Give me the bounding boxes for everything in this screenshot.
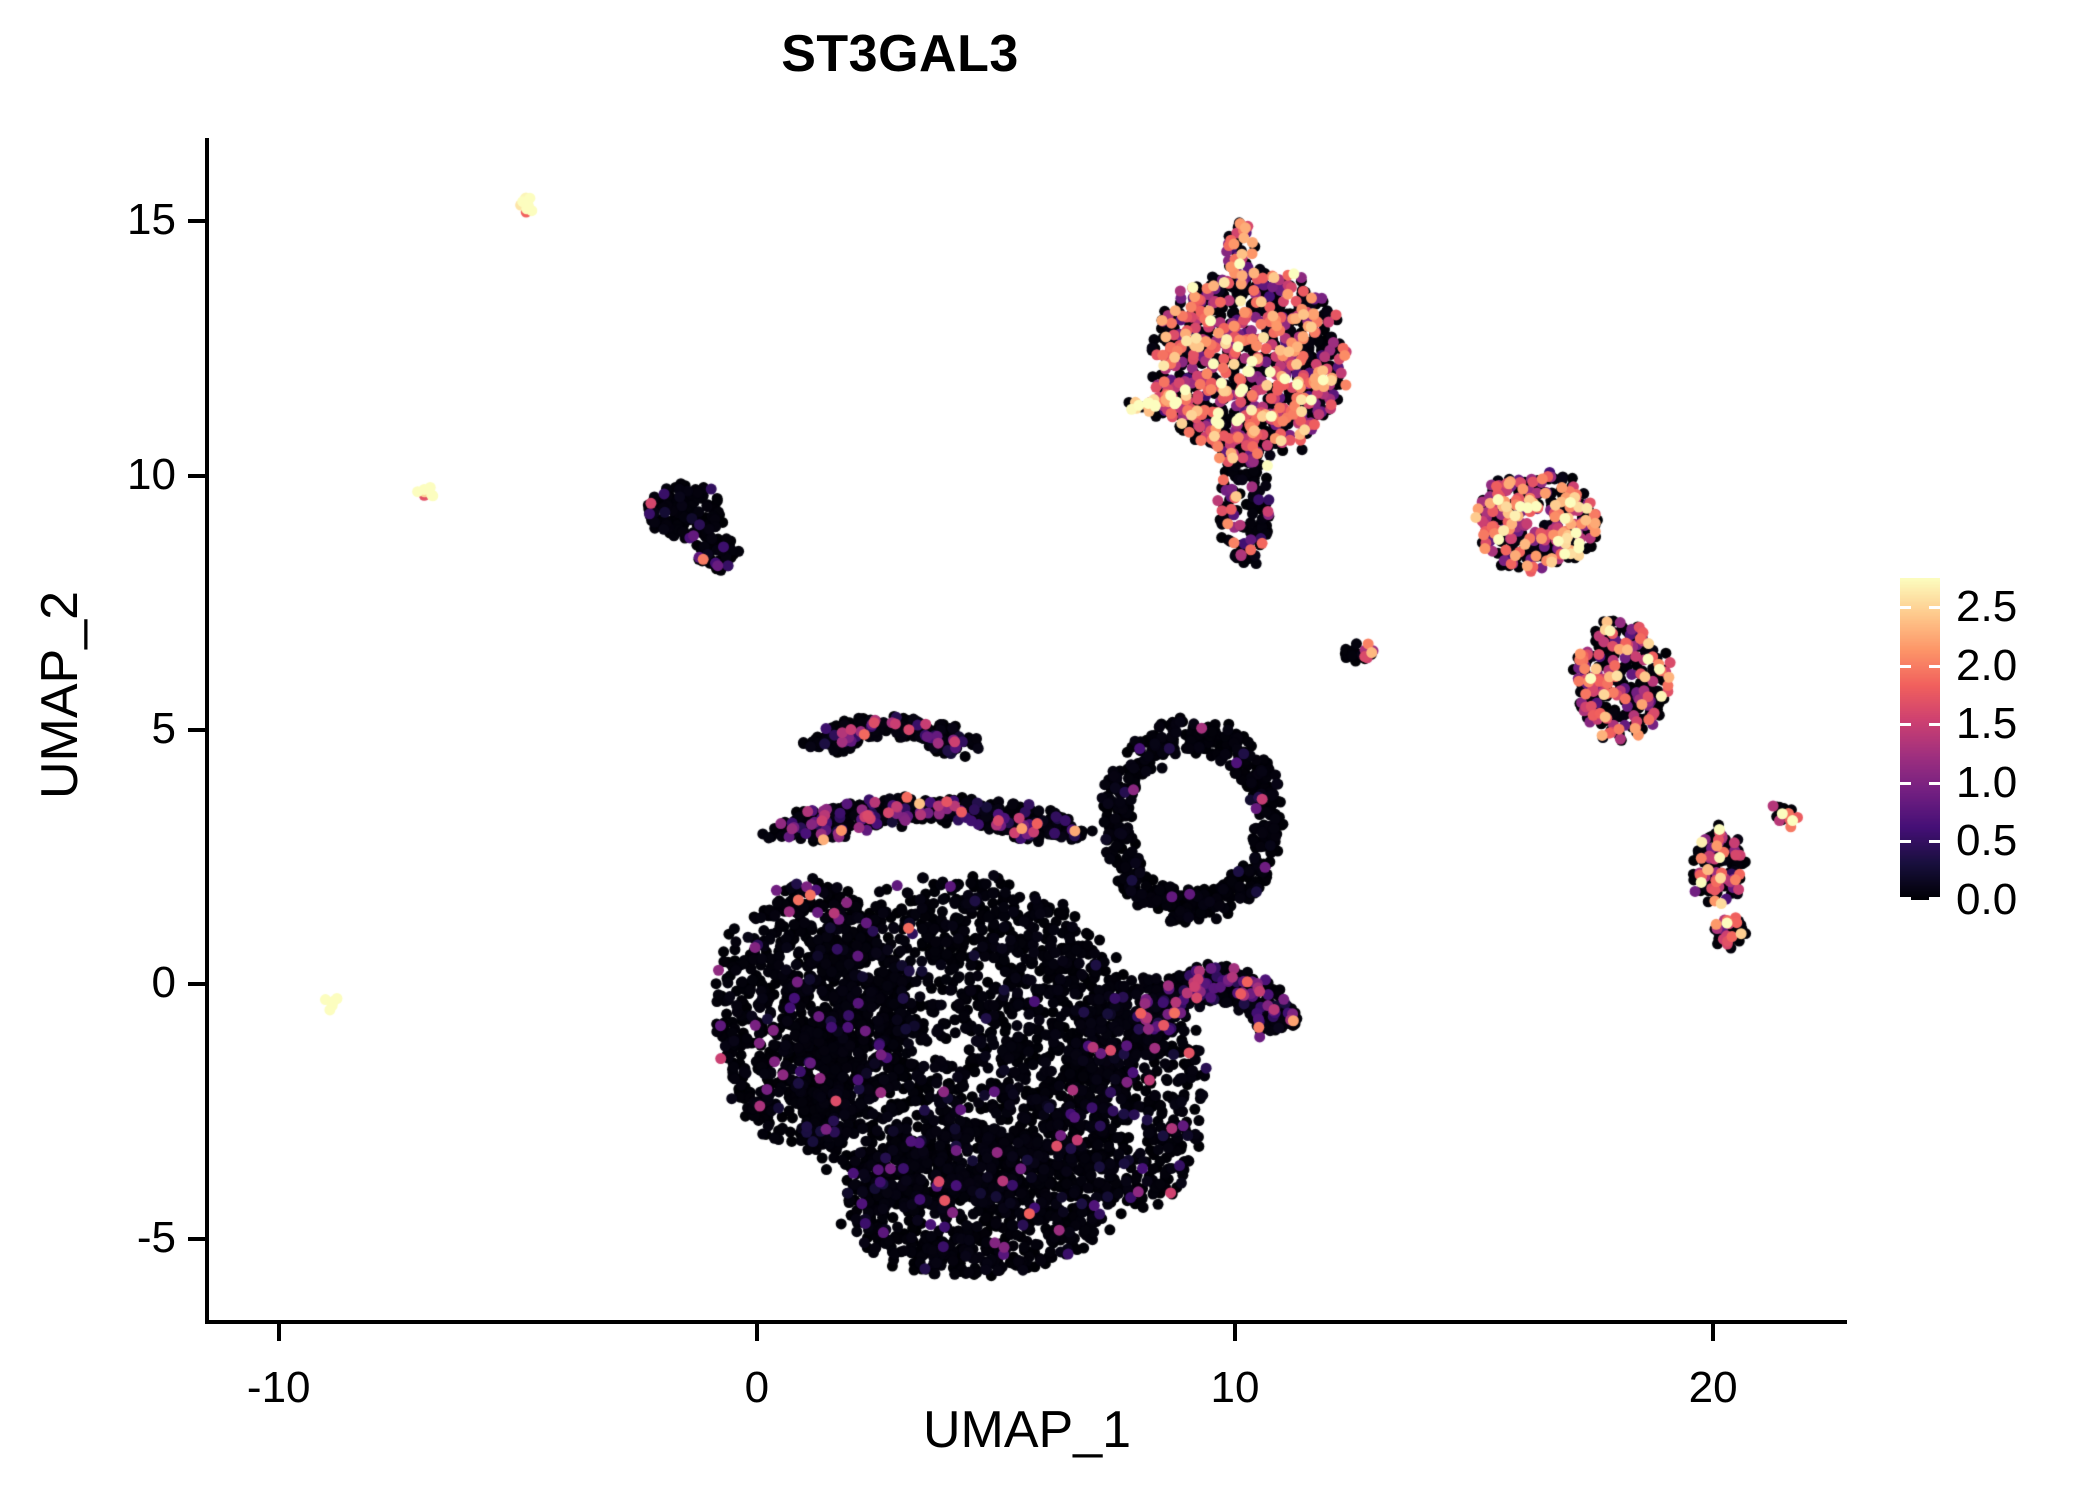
colorbar-tick-label: 0.0 xyxy=(1956,878,2017,922)
colorbar-tick-label: 1.0 xyxy=(1956,761,2017,805)
colorbar-tick-label: 2.5 xyxy=(1956,585,2017,629)
x-axis-tick xyxy=(755,1324,759,1341)
y-axis-tick xyxy=(188,982,205,986)
scatter-points-layer xyxy=(207,140,1847,1320)
y-axis-line xyxy=(205,138,209,1324)
colorbar-tick xyxy=(1900,665,1940,668)
y-axis-tick-label: -5 xyxy=(16,1216,176,1260)
colorbar-tick-label: 2.0 xyxy=(1956,644,2017,688)
x-axis-line xyxy=(205,1320,1847,1324)
page-title: ST3GAL3 xyxy=(0,24,1800,84)
colorbar-gradient xyxy=(1900,578,1940,900)
colorbar-tick-label: 0.5 xyxy=(1956,819,2017,863)
x-axis-label: UMAP_1 xyxy=(207,1400,1847,1460)
y-axis-tick xyxy=(188,474,205,478)
x-axis-tick xyxy=(277,1324,281,1341)
y-axis-label: UMAP_2 xyxy=(30,385,90,1005)
y-axis-tick xyxy=(188,1237,205,1241)
colorbar-tick xyxy=(1900,723,1940,726)
umap-feature-plot: ST3GAL3 151050-5 -1001020 UMAP_1 UMAP_2 … xyxy=(0,0,2100,1500)
colorbar-tick-label: 1.5 xyxy=(1956,702,2017,746)
y-axis-tick xyxy=(188,219,205,223)
x-axis-tick xyxy=(1711,1324,1715,1341)
x-axis-tick xyxy=(1233,1324,1237,1341)
scatter-plot-panel xyxy=(207,140,1847,1320)
colorbar-tick xyxy=(1900,782,1940,785)
colorbar-tick xyxy=(1900,897,1940,900)
colorbar-tick xyxy=(1900,606,1940,609)
y-axis-tick-label: 15 xyxy=(16,198,176,242)
colorbar-tick xyxy=(1900,840,1940,843)
y-axis-tick xyxy=(188,728,205,732)
color-legend: 0.00.51.01.52.02.5 xyxy=(1900,578,2090,908)
